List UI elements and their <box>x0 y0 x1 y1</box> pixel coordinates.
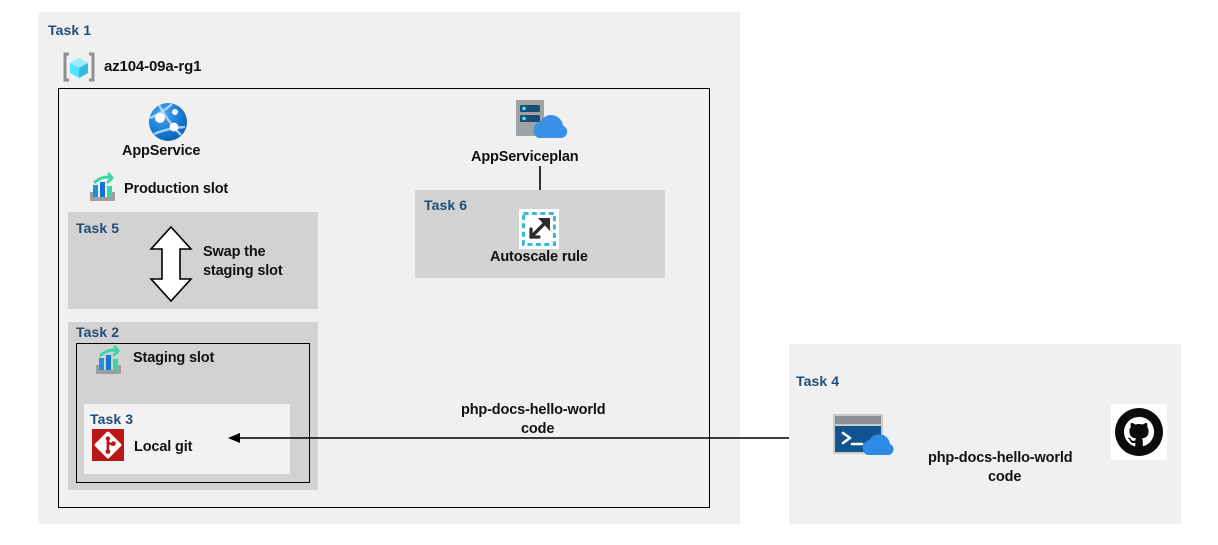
staging-slot-label: Staging slot <box>133 350 214 366</box>
deployment-slot-icon-staging <box>92 346 124 378</box>
task1-label: Task 1 <box>48 22 91 38</box>
center-flow-label-line1: php-docs-hello-world <box>461 402 605 418</box>
task5-label: Task 5 <box>76 220 119 236</box>
task4-arrow-label-line1: php-docs-hello-world <box>928 450 1072 466</box>
resource-group-icon <box>62 50 96 84</box>
task4-label: Task 4 <box>796 373 839 389</box>
appserviceplan-label: AppServiceplan <box>471 149 579 165</box>
deployment-slot-icon-production <box>86 173 118 205</box>
autoscale-icon <box>519 209 559 249</box>
appservice-label: AppService <box>122 143 200 159</box>
github-icon <box>1111 404 1167 460</box>
task4-arrow-label-line2: code <box>988 469 1021 485</box>
cloud-shell-icon <box>832 413 900 457</box>
swap-double-arrow-icon <box>146 225 196 303</box>
production-slot-label: Production slot <box>124 181 228 197</box>
task5-action-line1: Swap the <box>203 243 265 262</box>
app-service-icon <box>148 102 188 142</box>
task5-action-line2: staging slot <box>203 262 283 281</box>
local-git-label: Local git <box>134 439 192 455</box>
app-service-plan-icon <box>512 98 570 144</box>
git-icon <box>92 429 124 461</box>
resource-group-name: az104-09a-rg1 <box>104 58 201 75</box>
task3-label: Task 3 <box>90 411 133 427</box>
autoscale-rule-label: Autoscale rule <box>490 249 588 265</box>
task6-label: Task 6 <box>424 197 467 213</box>
task2-label: Task 2 <box>76 324 119 340</box>
